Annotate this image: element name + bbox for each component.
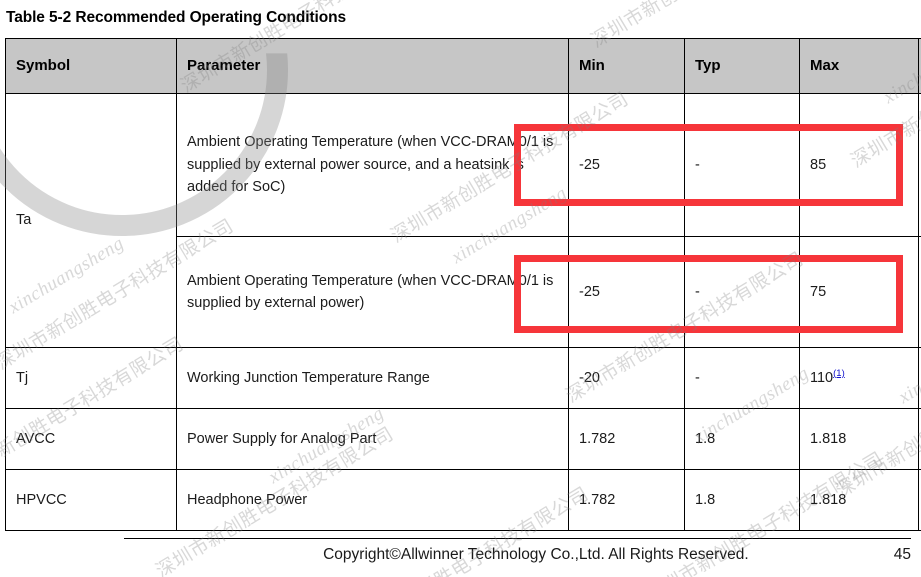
table-header: Symbol Parameter Min Typ Max Unit	[6, 39, 921, 94]
cell-symbol: AVCC	[6, 409, 177, 470]
highlight-box-row-2[interactable]	[514, 255, 903, 333]
cell-typ: 1.8	[685, 409, 800, 470]
column-header-parameter: Parameter	[177, 39, 569, 94]
cell-typ: -	[685, 348, 800, 409]
cell-max: 1.818	[800, 409, 919, 470]
cell-parameter: Working Junction Temperature Range	[177, 348, 569, 409]
cell-symbol: Ta	[6, 94, 177, 348]
cell-max: 1.818	[800, 470, 919, 531]
cell-parameter: Ambient Operating Temperature (when VCC-…	[177, 94, 569, 237]
cell-max-value: 1.818	[810, 431, 846, 447]
footnote-reference-link[interactable]: (1)	[833, 368, 845, 379]
cell-min: 1.782	[569, 409, 685, 470]
cell-max-value: 110	[810, 370, 833, 386]
table-header-row: Symbol Parameter Min Typ Max Unit	[6, 39, 921, 94]
cell-typ: 1.8	[685, 470, 800, 531]
table-row: Tj Working Junction Temperature Range -2…	[6, 348, 921, 409]
cell-max: 110(1)	[800, 348, 919, 409]
column-header-min: Min	[569, 39, 685, 94]
cell-parameter: Ambient Operating Temperature (when VCC-…	[177, 237, 569, 348]
document-page: Table 5-2 Recommended Operating Conditio…	[0, 0, 921, 29]
cell-symbol: Tj	[6, 348, 177, 409]
table-row: AVCC Power Supply for Analog Part 1.782 …	[6, 409, 921, 470]
footer-copyright: Copyright©Allwinner Technology Co.,Ltd. …	[124, 546, 894, 564]
footer-page-number: 45	[894, 546, 911, 564]
table-caption: Table 5-2 Recommended Operating Conditio…	[0, 0, 921, 29]
cell-min: -20	[569, 348, 685, 409]
cell-parameter: Power Supply for Analog Part	[177, 409, 569, 470]
table-row: HPVCC Headphone Power 1.782 1.8 1.818 V	[6, 470, 921, 531]
cell-parameter: Headphone Power	[177, 470, 569, 531]
cell-min: 1.782	[569, 470, 685, 531]
highlight-box-row-1[interactable]	[514, 124, 903, 206]
cell-max-value: 1.818	[810, 492, 846, 508]
column-header-typ: Typ	[685, 39, 800, 94]
cell-symbol: HPVCC	[6, 470, 177, 531]
page-footer: Copyright©Allwinner Technology Co.,Ltd. …	[124, 538, 911, 564]
column-header-max: Max	[800, 39, 919, 94]
column-header-symbol: Symbol	[6, 39, 177, 94]
